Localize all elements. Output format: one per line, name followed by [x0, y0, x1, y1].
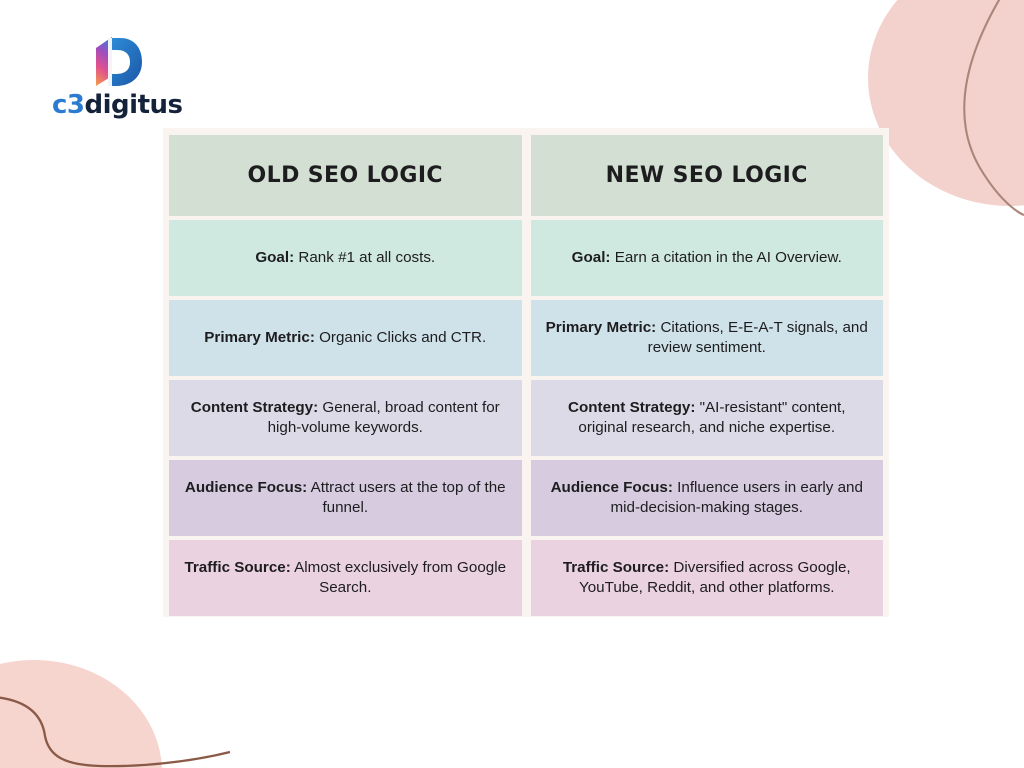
wordmark-c3: c3	[52, 90, 85, 120]
cell-new-audience-focus: Audience Focus: Influence users in early…	[531, 460, 884, 536]
cell-old-primary-metric-label: Primary Metric:	[204, 329, 315, 346]
cell-new-goal-value: Earn a citation in the AI Overview.	[611, 249, 842, 266]
cell-old-goal-text: Goal: Rank #1 at all costs.	[255, 248, 435, 268]
cell-old-content-strategy: Content Strategy: General, broad content…	[169, 380, 522, 456]
cell-new-goal: Goal: Earn a citation in the AI Overview…	[531, 220, 884, 296]
cell-old-primary-metric: Primary Metric: Organic Clicks and CTR.	[169, 300, 522, 376]
cell-new-traffic-source: Traffic Source: Diversified across Googl…	[531, 540, 884, 616]
table-row: Content Strategy: General, broad content…	[169, 380, 883, 456]
c3digitus-d-mark-icon	[86, 36, 142, 88]
table-row: Traffic Source: Almost exclusively from …	[169, 540, 883, 616]
cell-new-traffic-source-label: Traffic Source:	[563, 559, 669, 576]
cell-new-content-strategy-text: Content Strategy: "AI-resistant" content…	[545, 398, 870, 438]
table-row: Primary Metric: Organic Clicks and CTR. …	[169, 300, 883, 376]
cell-new-audience-focus-label: Audience Focus:	[551, 479, 673, 496]
curve-line-bottom-left	[0, 697, 230, 766]
curve-line-top-right	[964, 0, 1024, 215]
column-header-old: OLD SEO LOGIC	[169, 135, 522, 216]
cell-new-goal-label: Goal:	[572, 249, 611, 266]
cell-new-content-strategy-label: Content Strategy:	[568, 399, 695, 416]
cell-old-goal-label: Goal:	[255, 249, 294, 266]
column-header-old-label: OLD SEO LOGIC	[248, 163, 443, 188]
blob-top-right	[917, 0, 1024, 194]
seo-comparison-table: OLD SEO LOGIC NEW SEO LOGIC Goal: Rank #…	[163, 128, 889, 617]
wordmark-digitus: digitus	[85, 90, 183, 120]
cell-new-primary-metric-text: Primary Metric: Citations, E-E-A-T signa…	[545, 318, 870, 358]
cell-old-goal-value: Rank #1 at all costs.	[294, 249, 435, 266]
blob-top-right-main	[868, 0, 1024, 206]
blob-bottom-left	[0, 660, 162, 768]
cell-new-audience-focus-text: Audience Focus: Influence users in early…	[545, 478, 870, 518]
cell-old-traffic-source-value: Almost exclusively from Google Search.	[291, 559, 506, 596]
cell-new-primary-metric: Primary Metric: Citations, E-E-A-T signa…	[531, 300, 884, 376]
cell-old-audience-focus-label: Audience Focus:	[185, 479, 307, 496]
cell-old-audience-focus-value: Attract users at the top of the funnel.	[307, 479, 505, 516]
table-row: Audience Focus: Attract users at the top…	[169, 460, 883, 536]
table-header-row: OLD SEO LOGIC NEW SEO LOGIC	[169, 135, 883, 216]
cell-old-audience-focus-text: Audience Focus: Attract users at the top…	[183, 478, 508, 518]
brand-logo[interactable]: c3digitus	[52, 36, 182, 118]
cell-new-primary-metric-label: Primary Metric:	[546, 319, 657, 336]
cell-new-goal-text: Goal: Earn a citation in the AI Overview…	[572, 248, 842, 268]
cell-old-content-strategy-label: Content Strategy:	[191, 399, 318, 416]
cell-old-traffic-source: Traffic Source: Almost exclusively from …	[169, 540, 522, 616]
cell-old-primary-metric-value: Organic Clicks and CTR.	[315, 329, 486, 346]
cell-new-content-strategy: Content Strategy: "AI-resistant" content…	[531, 380, 884, 456]
cell-new-primary-metric-value: Citations, E-E-A-T signals, and review s…	[648, 319, 868, 356]
column-header-new-label: NEW SEO LOGIC	[606, 163, 808, 188]
cell-old-audience-focus: Audience Focus: Attract users at the top…	[169, 460, 522, 536]
table-row: Goal: Rank #1 at all costs. Goal: Earn a…	[169, 220, 883, 296]
cell-old-traffic-source-text: Traffic Source: Almost exclusively from …	[183, 558, 508, 598]
cell-new-traffic-source-text: Traffic Source: Diversified across Googl…	[545, 558, 870, 598]
cell-old-traffic-source-label: Traffic Source:	[184, 559, 290, 576]
cell-old-goal: Goal: Rank #1 at all costs.	[169, 220, 522, 296]
cell-old-content-strategy-text: Content Strategy: General, broad content…	[183, 398, 508, 438]
brand-wordmark: c3digitus	[52, 92, 182, 118]
column-header-new: NEW SEO LOGIC	[531, 135, 884, 216]
cell-old-primary-metric-text: Primary Metric: Organic Clicks and CTR.	[204, 328, 486, 348]
